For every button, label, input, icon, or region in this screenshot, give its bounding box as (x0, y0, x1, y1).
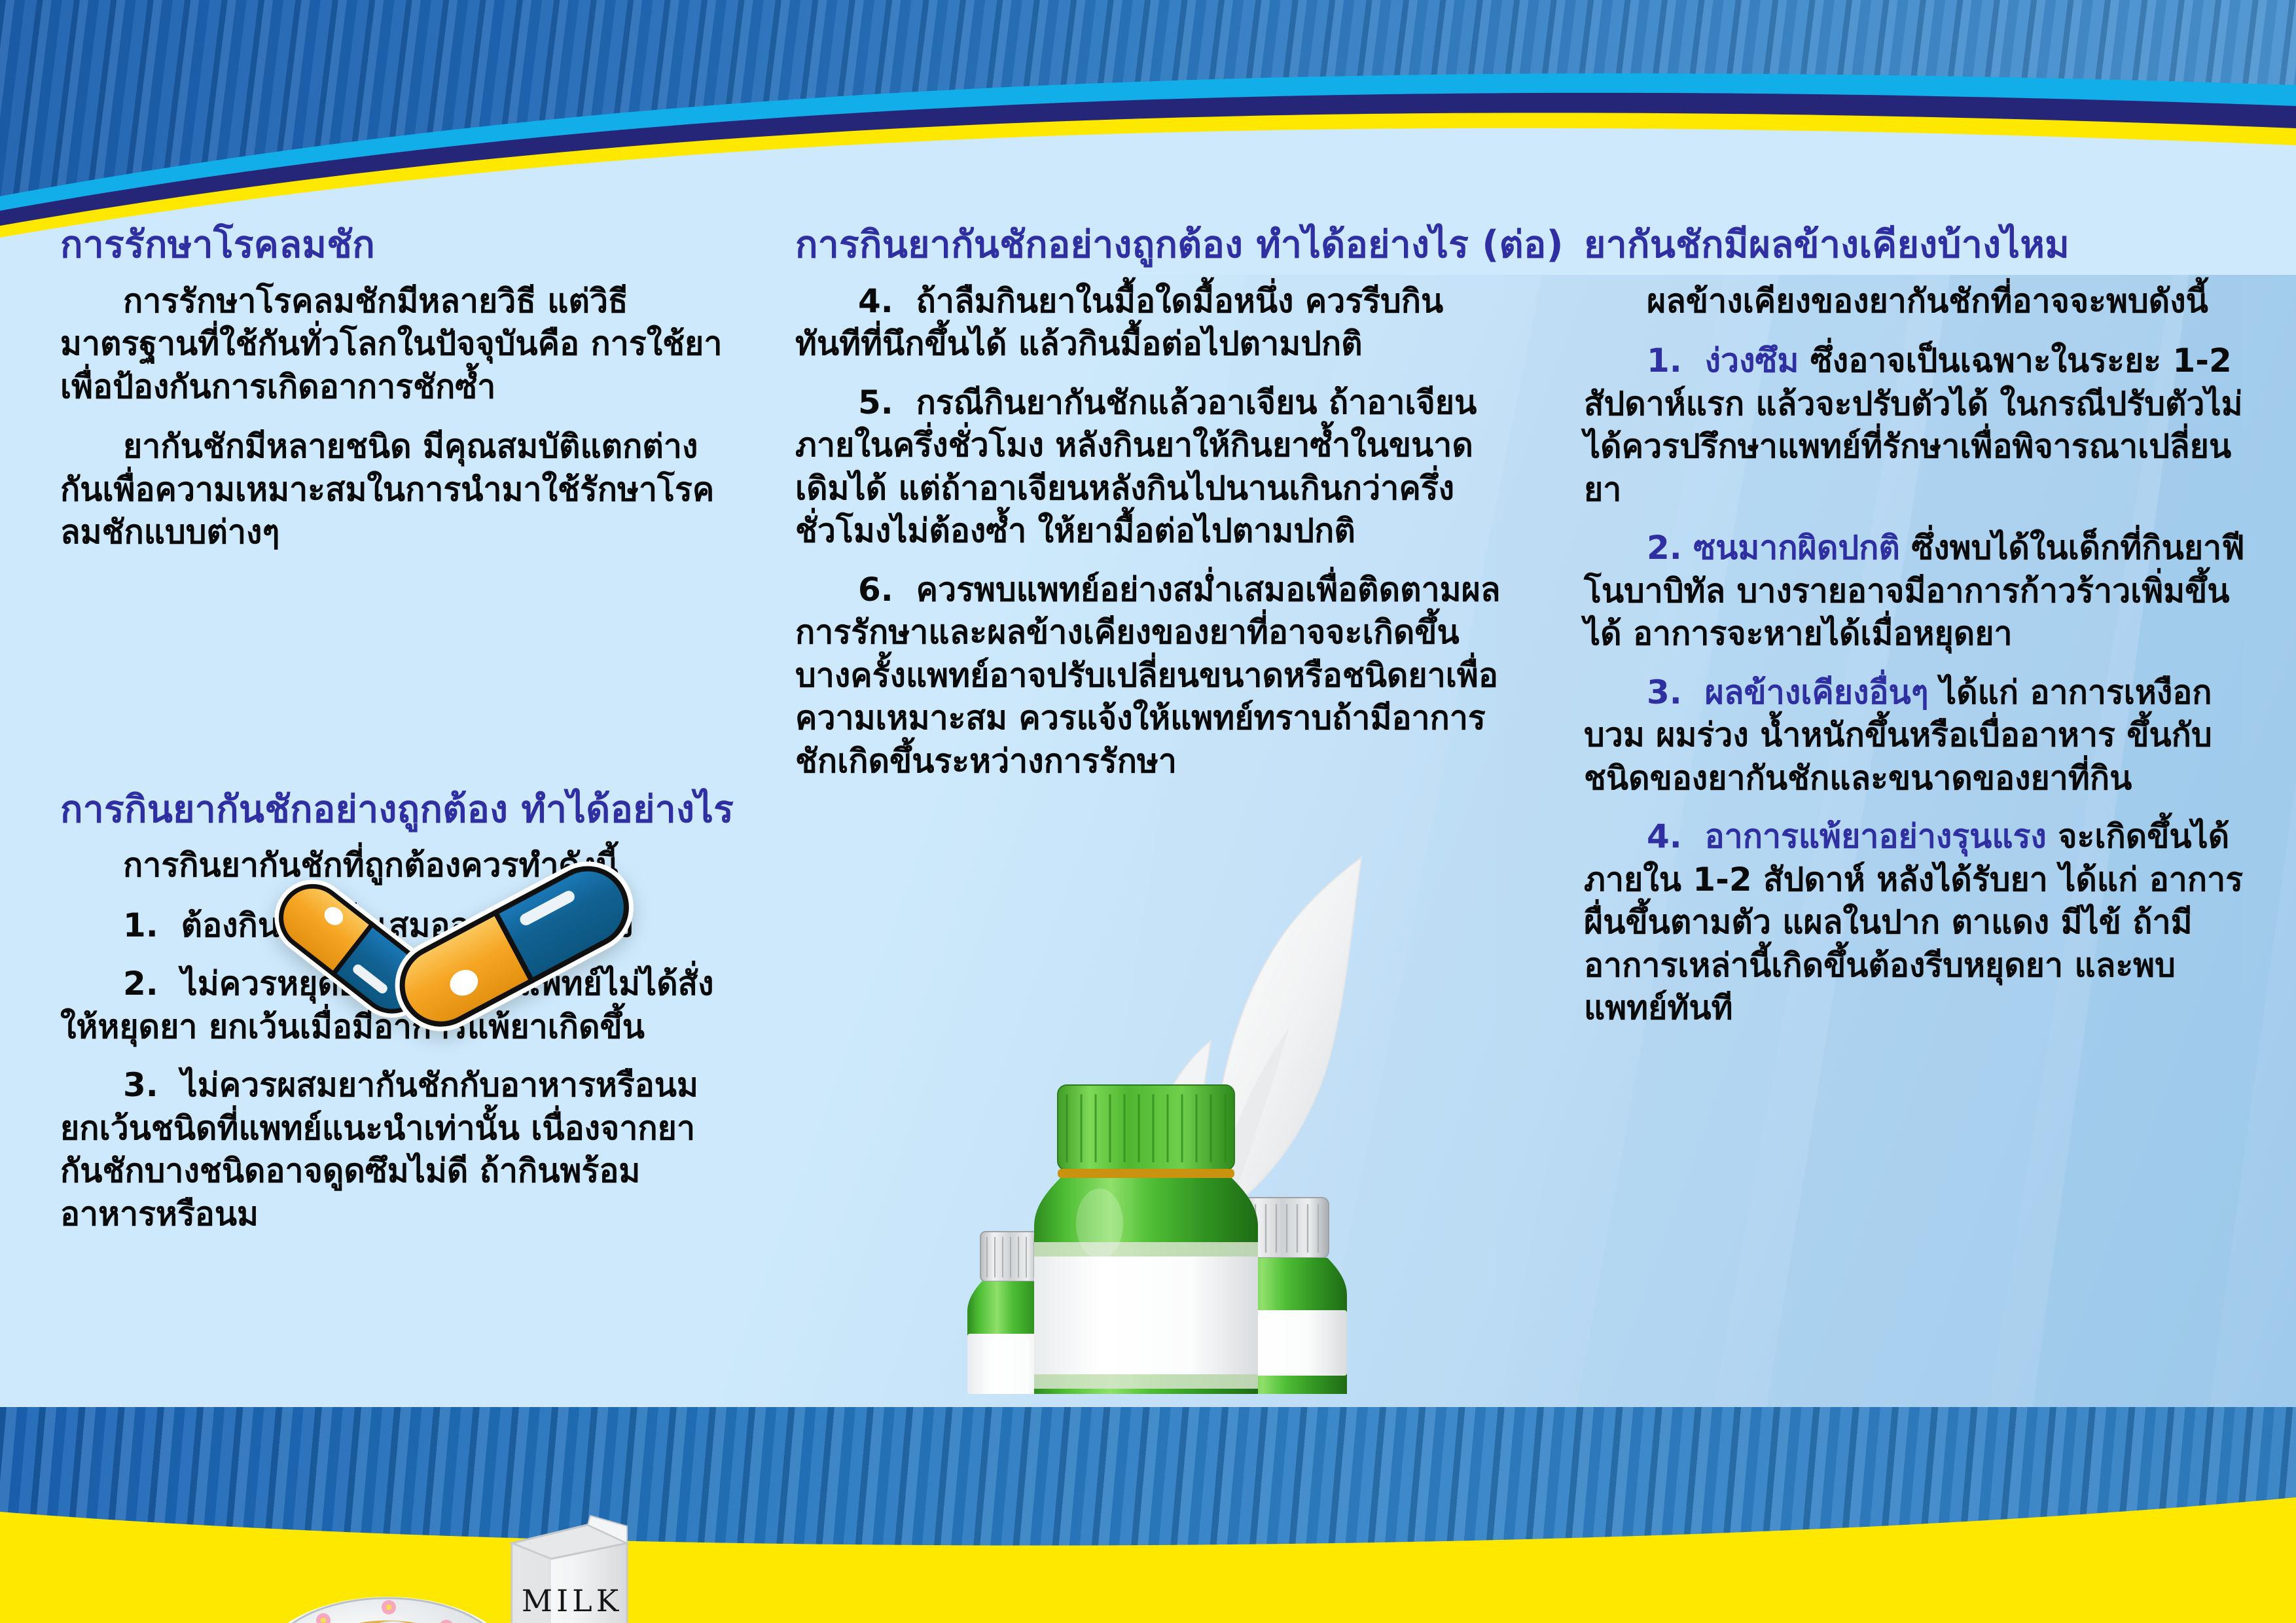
side-effect-item-1: 1. ง่วงซึม ซึ่งอาจเป็นเฉพาะในระยะ 1-2 สั… (1584, 340, 2258, 511)
side-effect-item-2-text: ซึ่งพบได้ในเด็กที่กินยาฟีโนบาบิทัล บางรา… (1584, 529, 2245, 652)
side-effect-item-3-number: 3. (1647, 673, 1682, 711)
column-left: การรักษาโรคลมชัก การรักษาโรคลมชักมีหลายว… (60, 223, 734, 1251)
list-item-2-number: 2. (123, 965, 158, 1003)
side-effect-item-3: 3. ผลข้างเคียงอื่นๆ ได้แก่ อาการเหงือกบว… (1584, 671, 2258, 800)
side-effect-item-1-number: 1. (1647, 342, 1682, 380)
content-area: การรักษาโรคลมชัก การรักษาโรคลมชักมีหลายว… (0, 0, 2296, 1623)
column-middle: การกินยากันชักอย่างถูกต้อง ทำได้อย่างไร … (795, 223, 1505, 798)
list-item-6-text: ควรพบแพทย์อย่างสม่ำเสมอเพื่อติดตามผลการร… (795, 571, 1501, 780)
heading-treatment: การรักษาโรคลมชัก (60, 223, 734, 268)
list-item-6-number: 6. (858, 571, 893, 609)
list-item-4-number: 4. (858, 282, 893, 320)
side-effect-item-3-keyword: ผลข้างเคียงอื่นๆ (1705, 673, 1929, 711)
list-item-5-number: 5. (858, 383, 893, 421)
brochure-page: การรักษาโรคลมชัก การรักษาโรคลมชักมีหลายว… (0, 0, 2296, 1623)
side-effect-item-2-keyword: ซนมากผิดปกติ (1693, 529, 1900, 567)
side-effect-item-2-number: 2. (1647, 529, 1682, 567)
paragraph-treatment-1: การรักษาโรคลมชักมีหลายวิธี แต่วิธีมาตรฐา… (60, 280, 734, 409)
side-effect-item-1-keyword: ง่วงซึม (1705, 342, 1799, 380)
side-effect-item-1-text: ซึ่งอาจเป็นเฉพาะในระยะ 1-2 สัปดาห์แรก แล… (1584, 342, 2243, 508)
side-effect-item-2: 2. ซนมากผิดปกติ ซึ่งพบได้ในเด็กที่กินยาฟ… (1584, 527, 2258, 656)
side-effect-item-4-number: 4. (1647, 817, 1682, 855)
list-item-3-number: 3. (123, 1066, 158, 1104)
list-item-4: 4. ถ้าลืมกินยาในมื้อใดมื้อหนึ่ง ควรรีบกิ… (795, 280, 1505, 366)
food-and-milk-illustration: MILK (250, 1486, 669, 1623)
list-item-3: 3. ไม่ควรผสมยากันชักกับอาหารหรือนม ยกเว้… (60, 1064, 734, 1236)
list-item-1-number: 1. (123, 906, 158, 944)
milk-carton-label: MILK (522, 1583, 622, 1618)
milk-carton-icon: MILK (512, 1516, 627, 1623)
paragraph-treatment-2: ยากันชักมีหลายชนิด มีคุณสมบัติแตกต่างกัน… (60, 425, 734, 554)
medicine-bottle-center (1034, 1085, 1258, 1394)
side-effect-item-4: 4. อาการแพ้ยาอย่างรุนแรง จะเกิดขึ้นได้ภา… (1584, 815, 2258, 1030)
lead-side-effects: ผลข้างเคียงของยากันชักที่อาจจะพบดังนี้ (1584, 280, 2258, 323)
side-effect-item-4-keyword: อาการแพ้ยาอย่างรุนแรง (1705, 817, 2047, 855)
heading-how-to-take: การกินยากันชักอย่างถูกต้อง ทำได้อย่างไร (60, 787, 734, 833)
list-item-5-text: กรณีกินยากันชักแล้วอาเจียน ถ้าอาเจียนภาย… (795, 383, 1477, 550)
heading-side-effects: ยากันชักมีผลข้างเคียงบ้างไหม (1584, 223, 2258, 268)
list-item-6: 6. ควรพบแพทย์อย่างสม่ำเสมอเพื่อติดตามผลก… (795, 569, 1505, 783)
capsules-illustration (224, 831, 682, 1047)
medicine-bottles-illustration (903, 805, 1420, 1394)
heading-how-to-take-continued: การกินยากันชักอย่างถูกต้อง ทำได้อย่างไร … (795, 223, 1505, 268)
food-plate-icon (259, 1597, 516, 1623)
list-item-5: 5. กรณีกินยากันชักแล้วอาเจียน ถ้าอาเจียน… (795, 382, 1505, 553)
column-right: ยากันชักมีผลข้างเคียงบ้างไหม ผลข้างเคียง… (1584, 223, 2258, 1046)
